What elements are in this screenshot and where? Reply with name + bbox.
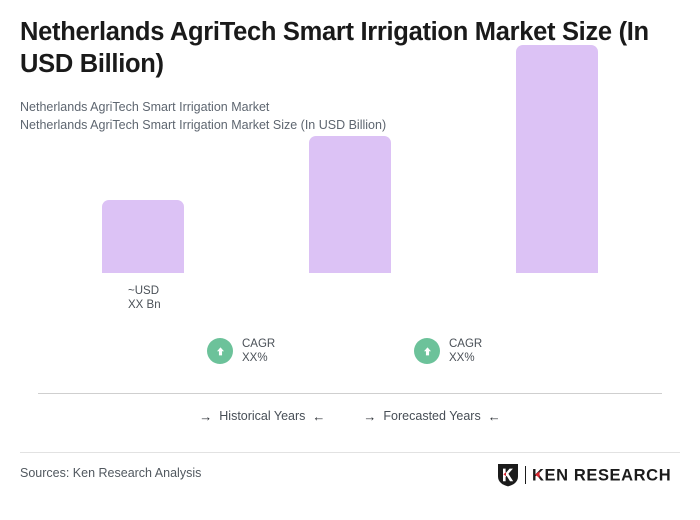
shield-k-icon xyxy=(497,463,519,487)
bar-column[interactable] xyxy=(309,136,391,273)
plot-area: ~USD XX Bn CAGR XX% ~USD 1.2 Bn CAGR XX% xyxy=(0,0,700,400)
axis-baseline xyxy=(38,393,662,394)
arrow-right-icon: → xyxy=(199,410,212,423)
logo-wordmark: KEN RESEARCH xyxy=(532,465,680,485)
period-legend: → Historical Years ← → Forecasted Years … xyxy=(0,409,700,423)
legend-item-forecasted: → Forecasted Years ← xyxy=(363,409,500,423)
chart-page: Netherlands AgriTech Smart Irrigation Ma… xyxy=(0,0,700,520)
legend-label-forecasted: Forecasted Years xyxy=(383,409,480,423)
cagr-label: CAGR XX% xyxy=(242,337,275,366)
arrow-left-icon: ← xyxy=(312,410,325,423)
cagr-forecast-annotation: CAGR XX% xyxy=(414,337,482,366)
logo-divider xyxy=(525,466,526,484)
ken-research-logo: KEN RESEARCH xyxy=(497,463,680,487)
bar-column[interactable] xyxy=(516,45,598,273)
arrow-up-circle-icon xyxy=(414,338,440,364)
svg-text:KEN RESEARCH: KEN RESEARCH xyxy=(532,467,671,485)
legend-item-historical: → Historical Years ← xyxy=(199,409,325,423)
footer-divider xyxy=(20,452,680,453)
bar-value-label: ~USD XX Bn xyxy=(128,284,161,313)
cagr-label: CAGR XX% xyxy=(449,337,482,366)
arrow-up-circle-icon xyxy=(207,338,233,364)
legend-label-historical: Historical Years xyxy=(219,409,305,423)
arrow-left-icon: ← xyxy=(488,410,501,423)
sources-text: Sources: Ken Research Analysis xyxy=(20,466,201,480)
arrow-right-icon: → xyxy=(363,410,376,423)
bar-column[interactable] xyxy=(102,200,184,273)
cagr-historical-annotation: CAGR XX% xyxy=(207,337,275,366)
